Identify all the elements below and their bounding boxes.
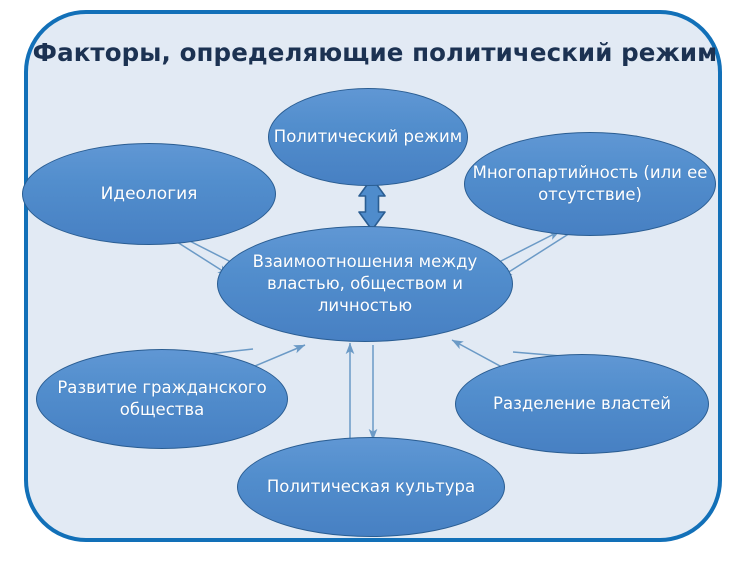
node-multiparty-system[interactable]: Многопартийность (или ее отсутствие) xyxy=(464,132,716,236)
connector-center-bottom xyxy=(350,343,373,440)
node-label: Идеология xyxy=(101,183,198,205)
node-label: Развитие гражданского общества xyxy=(37,377,287,421)
diagram-canvas: Факторы, определяющие политический режим xyxy=(0,0,750,561)
node-political-culture[interactable]: Политическая культура xyxy=(237,437,505,537)
node-civil-society-development[interactable]: Развитие гражданского общества xyxy=(36,349,288,449)
node-label: Многопартийность (или ее отсутствие) xyxy=(465,162,715,206)
node-label: Разделение властей xyxy=(493,393,671,415)
node-label: Политический режим xyxy=(274,126,462,148)
node-power-society-individual-relations[interactable]: Взаимоотношения между властью, обществом… xyxy=(217,226,513,342)
node-label: Взаимоотношения между властью, обществом… xyxy=(218,251,512,316)
node-ideology[interactable]: Идеология xyxy=(22,143,276,245)
node-political-regime[interactable]: Политический режим xyxy=(268,88,468,186)
node-separation-of-powers[interactable]: Разделение властей xyxy=(455,354,709,454)
node-label: Политическая культура xyxy=(267,476,475,498)
